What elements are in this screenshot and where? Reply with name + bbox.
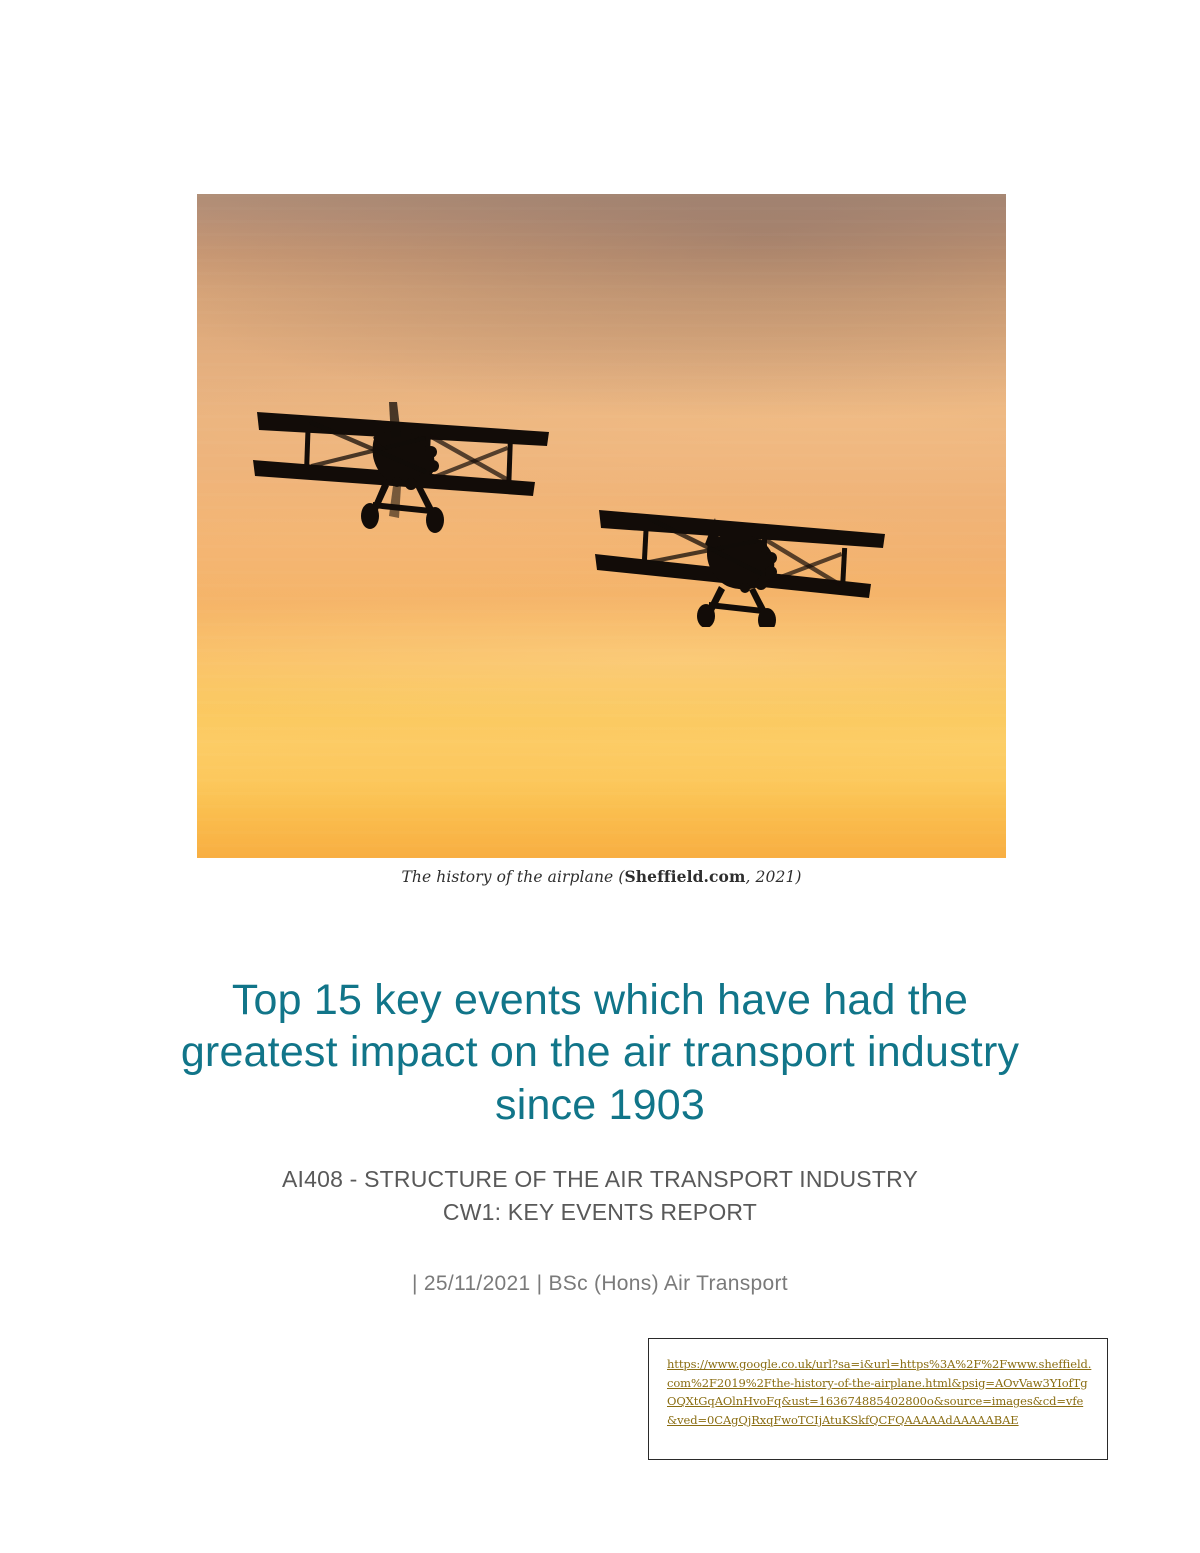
- biplane-silhouette-lead: [249, 390, 559, 535]
- document-page: The history of the airplane (Sheffield.c…: [0, 0, 1200, 1553]
- caption-prefix: The history of the airplane (: [401, 868, 624, 886]
- date-and-course-line: | 25/11/2021 | BSc (Hons) Air Transport: [150, 1272, 1050, 1296]
- coursework-line: CW1: KEY EVENTS REPORT: [150, 1196, 1050, 1229]
- source-url-box: https://www.google.co.uk/url?sa=i&url=ht…: [648, 1338, 1108, 1460]
- caption-source: Sheffield.com: [624, 867, 745, 886]
- module-code-line: AI408 - STRUCTURE OF THE AIR TRANSPORT I…: [150, 1163, 1050, 1196]
- caption-suffix: , 2021): [746, 868, 802, 886]
- figure-block: The history of the airplane (Sheffield.c…: [197, 194, 1006, 886]
- module-subtitle: AI408 - STRUCTURE OF THE AIR TRANSPORT I…: [150, 1163, 1050, 1228]
- page-title: Top 15 key events which have had the gre…: [150, 974, 1050, 1131]
- biplanes-at-sunset-photo: [197, 194, 1006, 858]
- source-url-link[interactable]: https://www.google.co.uk/url?sa=i&url=ht…: [667, 1357, 1091, 1427]
- biplane-silhouette-trailing: [593, 492, 893, 627]
- figure-caption: The history of the airplane (Sheffield.c…: [197, 867, 1006, 886]
